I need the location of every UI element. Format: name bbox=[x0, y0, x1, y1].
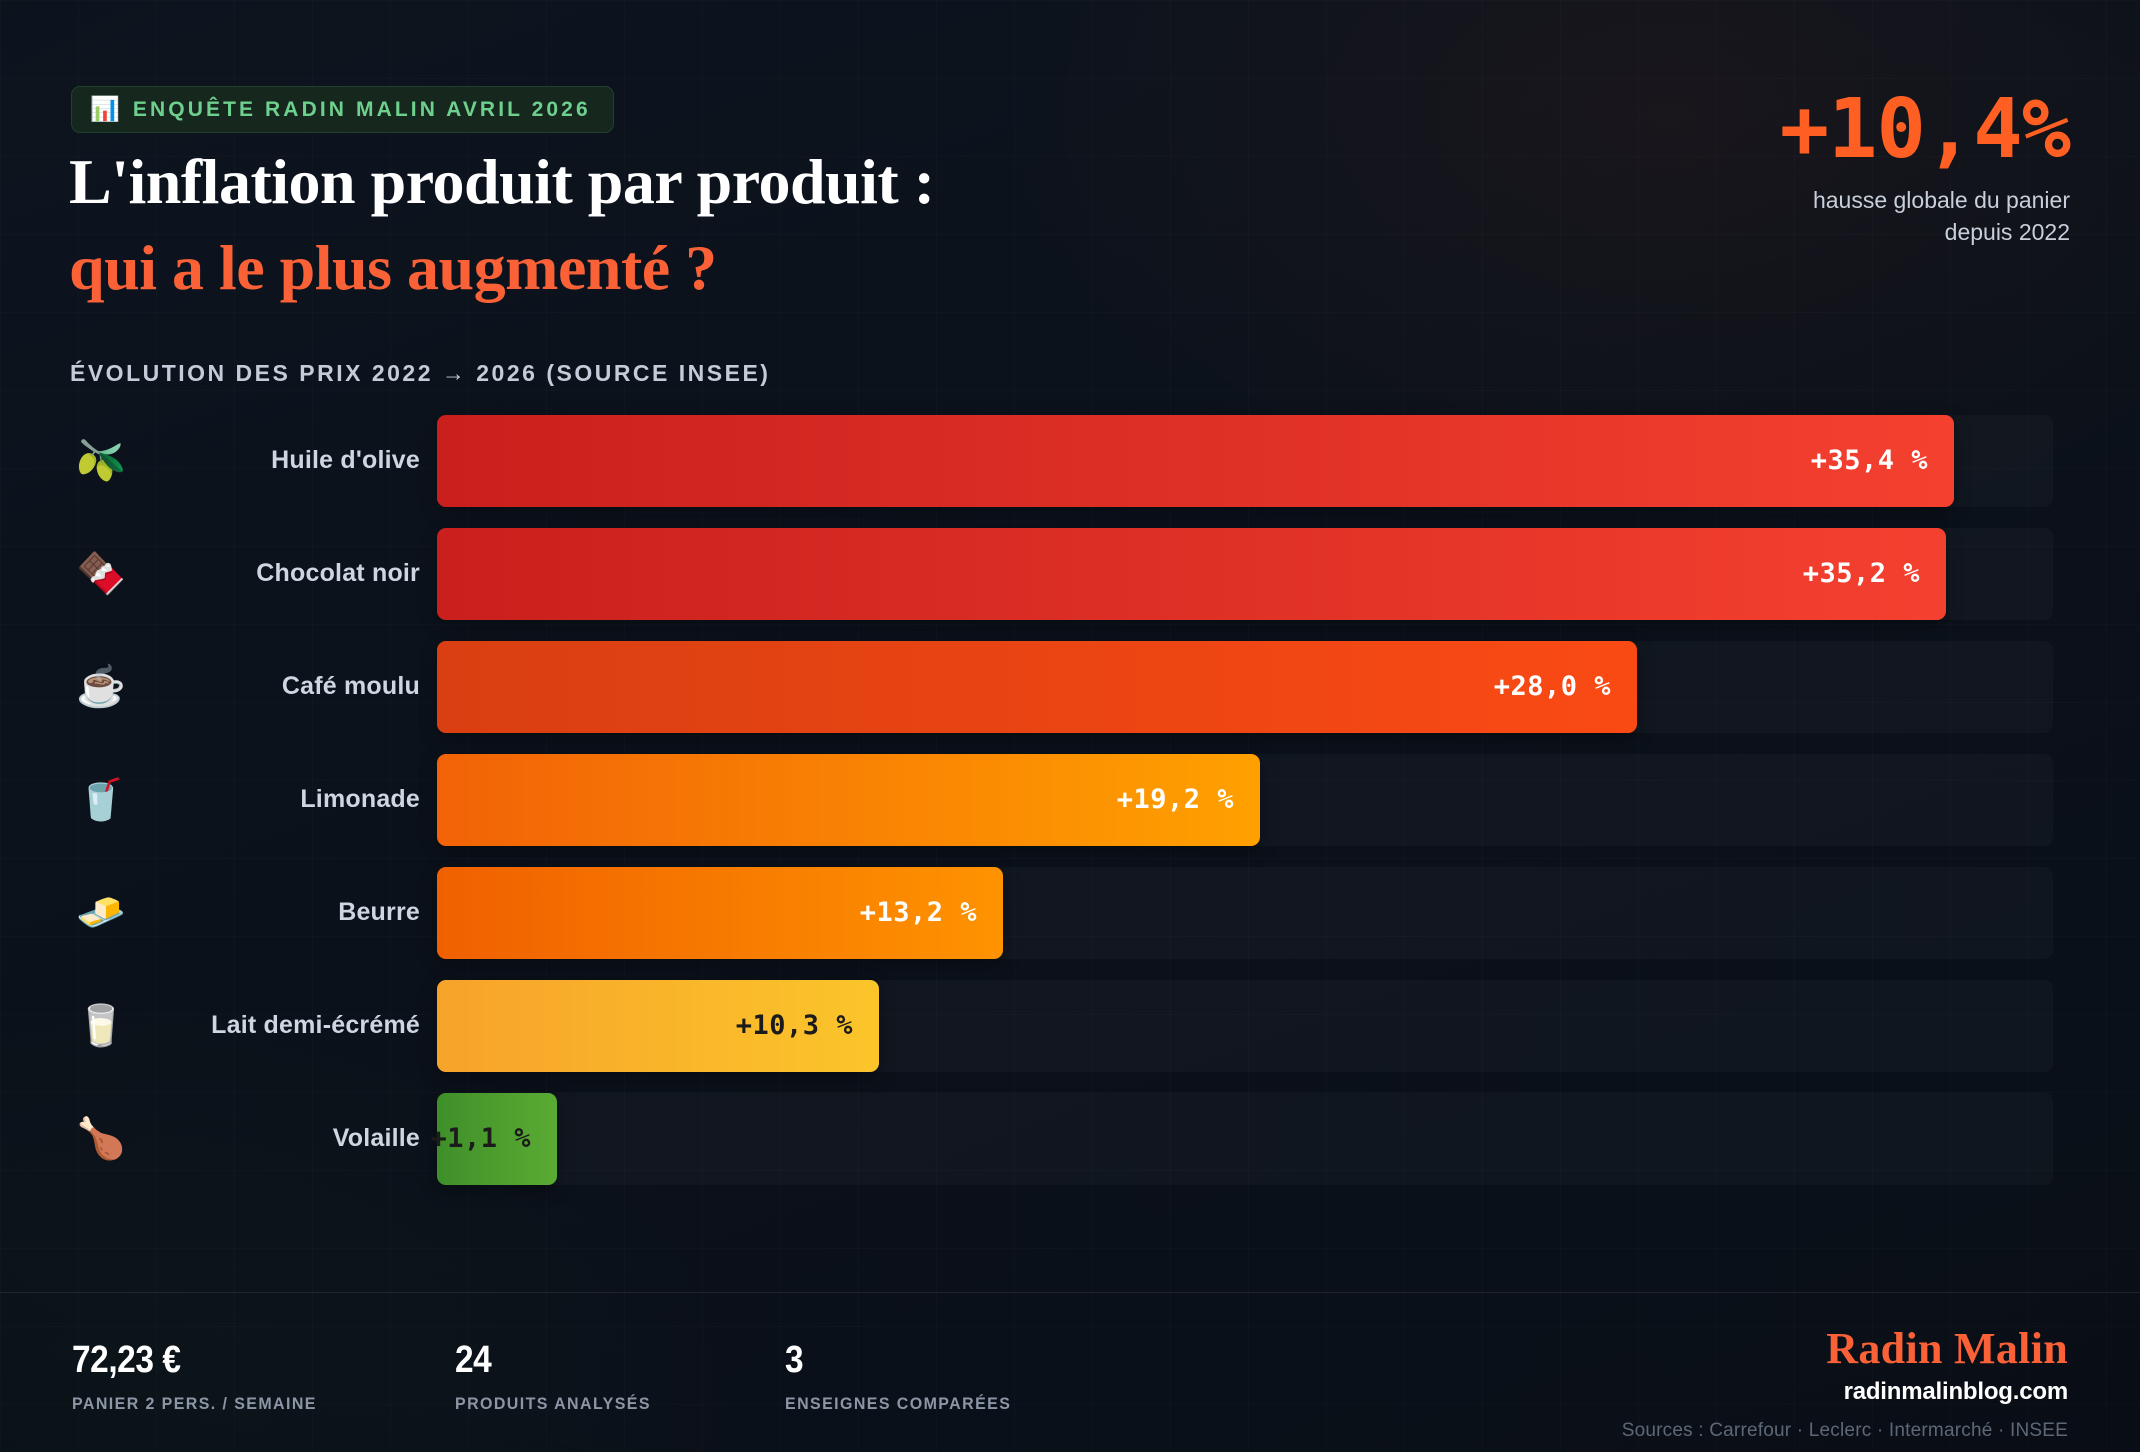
survey-badge: 📊 ENQUÊTE RADIN MALIN AVRIL 2026 bbox=[71, 86, 614, 133]
footer: 72,23 €PANIER 2 PERS. / SEMAINE24PRODUIT… bbox=[0, 1293, 2140, 1452]
kpi-subtitle-line-2: depuis 2022 bbox=[1780, 217, 2070, 249]
title-line-2: qui a le plus augmenté ? bbox=[69, 236, 935, 300]
bar-value-label: +19,2 % bbox=[1117, 784, 1260, 815]
product-label: Chocolat noir bbox=[150, 559, 420, 588]
title-line-1: L'inflation produit par produit : bbox=[69, 150, 935, 214]
footer-stat: 72,23 €PANIER 2 PERS. / SEMAINE bbox=[72, 1341, 333, 1414]
bar-value-label: +28,0 % bbox=[1494, 671, 1637, 702]
footer-stat: 24PRODUITS ANALYSÉS bbox=[455, 1341, 663, 1414]
product-icon: 🍗 bbox=[72, 1119, 130, 1159]
product-label: Limonade bbox=[150, 785, 420, 814]
chart-row: 🧈Beurre+13,2 % bbox=[0, 856, 2140, 969]
global-kpi: +10,4% hausse globale du panier depuis 2… bbox=[1780, 92, 2070, 249]
product-label: Huile d'olive bbox=[150, 446, 420, 475]
product-icon: 🥛 bbox=[72, 1006, 130, 1046]
product-icon: 🍫 bbox=[72, 554, 130, 594]
product-icon: 🥤 bbox=[72, 780, 130, 820]
kpi-value: +10,4% bbox=[1780, 92, 2070, 167]
bar[interactable]: +13,2 % bbox=[437, 867, 1003, 959]
brand-url[interactable]: radinmalinblog.com bbox=[1622, 1378, 2068, 1406]
chart-row: 🍫Chocolat noir+35,2 % bbox=[0, 517, 2140, 630]
chart-row: 🍗Volaille+1,1 % bbox=[0, 1082, 2140, 1195]
bar-value-label: +35,2 % bbox=[1803, 558, 1946, 589]
brand-block: Radin Malin radinmalinblog.com Sources :… bbox=[1622, 1323, 2068, 1442]
chart-row: 🥤Limonade+19,2 % bbox=[0, 743, 2140, 856]
bar-chart-icon: 📊 bbox=[90, 98, 120, 122]
infographic-page: 📊 ENQUÊTE RADIN MALIN AVRIL 2026 L'infla… bbox=[0, 0, 2140, 1452]
bar[interactable]: +35,4 % bbox=[437, 415, 1954, 507]
footer-stat-number: 72,23 € bbox=[72, 1341, 301, 1379]
product-icon: ☕ bbox=[72, 667, 130, 707]
bar-value-label: +10,3 % bbox=[736, 1010, 879, 1041]
footer-stat-number: 24 bbox=[455, 1341, 638, 1379]
brand-name: Radin Malin bbox=[1622, 1323, 2068, 1374]
bar-value-label: +13,2 % bbox=[860, 897, 1003, 928]
bar-value-label: +1,1 % bbox=[430, 1123, 557, 1154]
chart-row: 🥛Lait demi-écrémé+10,3 % bbox=[0, 969, 2140, 1082]
section-label: ÉVOLUTION DES PRIX 2022 → 2026 (SOURCE I… bbox=[70, 360, 770, 387]
bar[interactable]: +19,2 % bbox=[437, 754, 1260, 846]
product-label: Lait demi-écrémé bbox=[150, 1011, 420, 1040]
product-label: Beurre bbox=[150, 898, 420, 927]
bar[interactable]: +28,0 % bbox=[437, 641, 1637, 733]
footer-stat-label: PANIER 2 PERS. / SEMAINE bbox=[72, 1394, 317, 1414]
kpi-subtitle: hausse globale du panier depuis 2022 bbox=[1780, 185, 2070, 248]
product-icon: 🫒 bbox=[72, 441, 130, 481]
footer-stat-number: 3 bbox=[785, 1341, 997, 1379]
bar-value-label: +35,4 % bbox=[1811, 445, 1954, 476]
bar[interactable]: +10,3 % bbox=[437, 980, 879, 1072]
chart-row: ☕Café moulu+28,0 % bbox=[0, 630, 2140, 743]
page-title: L'inflation produit par produit : qui a … bbox=[69, 150, 935, 300]
product-label: Volaille bbox=[150, 1124, 420, 1153]
bar[interactable]: +35,2 % bbox=[437, 528, 1946, 620]
product-label: Café moulu bbox=[150, 672, 420, 701]
footer-stat: 3ENSEIGNES COMPARÉES bbox=[785, 1341, 1026, 1414]
kpi-subtitle-line-1: hausse globale du panier bbox=[1780, 185, 2070, 217]
footer-stats: 72,23 €PANIER 2 PERS. / SEMAINE24PRODUIT… bbox=[72, 1341, 1026, 1414]
survey-badge-label: ENQUÊTE RADIN MALIN AVRIL 2026 bbox=[133, 98, 591, 122]
footer-stat-label: PRODUITS ANALYSÉS bbox=[455, 1394, 651, 1414]
bar-track bbox=[437, 1093, 2053, 1185]
inflation-bar-chart: 🫒Huile d'olive+35,4 %🍫Chocolat noir+35,2… bbox=[0, 404, 2140, 1195]
bar[interactable]: +1,1 % bbox=[437, 1093, 557, 1185]
chart-row: 🫒Huile d'olive+35,4 % bbox=[0, 404, 2140, 517]
sources-text: Sources : Carrefour · Leclerc · Intermar… bbox=[1622, 1420, 2068, 1442]
product-icon: 🧈 bbox=[72, 893, 130, 933]
footer-stat-label: ENSEIGNES COMPARÉES bbox=[785, 1394, 1011, 1414]
